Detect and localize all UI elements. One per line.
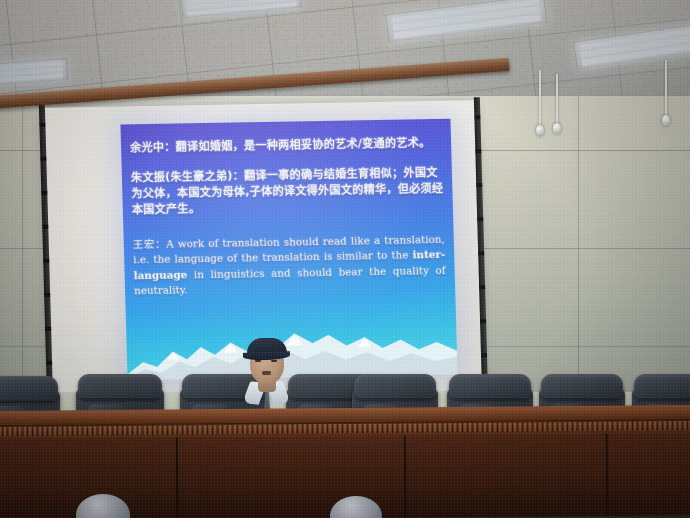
slide-paragraph-3-part1: A work of translation should read like a… [133, 233, 445, 266]
slide-paragraph-2: 朱文振(朱生豪之弟)：翻译一事的确与结婚生育相似；外国文为父体，本国文为母体,子… [131, 165, 444, 218]
slide-paragraph-3: 王宏：A work of translation should read lik… [133, 232, 447, 300]
speaker-eye-right [271, 360, 277, 362]
pull-cord-knob [536, 125, 544, 136]
projected-slide: 余光中：翻译如婚姻，是一种两相妥协的艺术/变通的艺术。 朱文振(朱生豪之弟)：翻… [120, 119, 457, 381]
pull-cord-knob [662, 115, 670, 126]
speaker-mouth [262, 371, 271, 375]
mountain-range-graphic [126, 317, 458, 381]
ceiling-pull-cord [665, 60, 667, 118]
slide-paragraph-1: 余光中：翻译如婚姻，是一种两相妥协的艺术/变通的艺术。 [130, 135, 442, 156]
ceiling-pull-cord [539, 70, 541, 128]
speaker-eye-left [255, 360, 261, 362]
lecture-hall-photo: 余光中：翻译如婚姻，是一种两相妥协的艺术/变通的艺术。 朱文振(朱生豪之弟)：翻… [0, 0, 690, 518]
slide-text-block: 余光中：翻译如婚姻，是一种两相妥协的艺术/变通的艺术。 朱文振(朱生豪之弟)：翻… [130, 135, 446, 300]
pull-cord-knob [553, 123, 561, 134]
slide-paragraph-3-prefix: 王宏： [133, 238, 167, 251]
ceiling-pull-cord [556, 74, 558, 126]
